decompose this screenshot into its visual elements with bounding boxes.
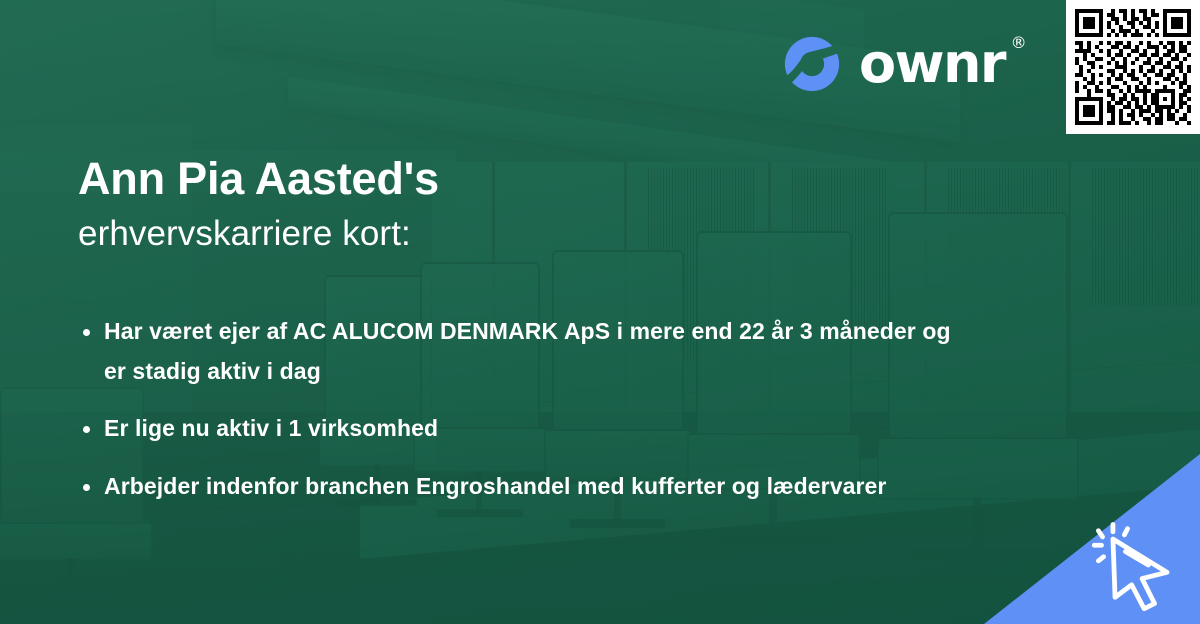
qr-code[interactable] [1066, 0, 1200, 134]
career-facts-list: Har været ejer af AC ALUCOM DENMARK ApS … [78, 312, 958, 524]
career-card: ownr® [0, 0, 1200, 624]
list-item: Er lige nu aktiv i 1 virksomhed [78, 409, 958, 449]
list-item: Arbejder indenfor branchen Engroshandel … [78, 467, 958, 507]
ownr-circle-logo-icon [781, 33, 843, 95]
ownr-logo: ownr® [781, 33, 1005, 95]
click-cursor-icon [1088, 512, 1192, 616]
ownr-wordmark: ownr® [859, 37, 1005, 91]
title-subtitle: erhvervskarriere kort: [78, 209, 439, 258]
title-name: Ann Pia Aasted's [78, 152, 439, 205]
registered-mark: ® [1011, 35, 1026, 51]
page-title: Ann Pia Aasted's erhvervskarriere kort: [78, 152, 439, 258]
list-item: Har været ejer af AC ALUCOM DENMARK ApS … [78, 312, 958, 391]
ownr-wordmark-text: ownr [859, 32, 1005, 95]
